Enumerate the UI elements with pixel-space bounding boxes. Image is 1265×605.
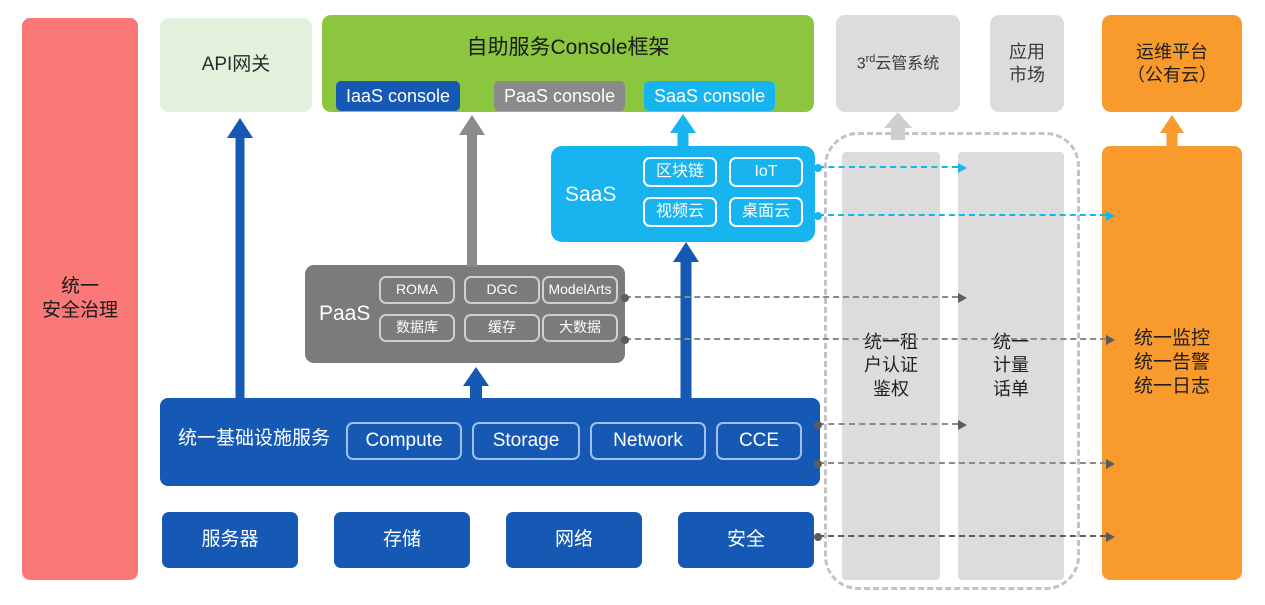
arrow-paas-to-console — [458, 115, 486, 267]
infra-service-network[interactable]: Network — [590, 422, 706, 460]
app-market-label: 应用市场 — [1009, 41, 1045, 86]
ops-platform-public-cloud-box: 运维平台（公有云） — [1102, 15, 1242, 112]
saas-layer-panel: SaaS 区块链 IoT 视频云 桌面云 — [551, 146, 815, 242]
api-gateway-box: API网关 — [160, 18, 312, 112]
arrow-infra-to-api-gateway — [226, 118, 254, 400]
paas-service-roma[interactable]: ROMA — [379, 276, 455, 304]
shared-service-tenant-auth-label: 统一租户认证鉴权 — [864, 331, 918, 401]
shared-service-metering-billing: 统一计量话单 — [958, 152, 1064, 580]
link-paas-to-tenant-auth — [625, 296, 958, 298]
unified-infrastructure-panel: 统一基础设施服务 Compute Storage Network CCE — [160, 398, 820, 486]
infra-service-compute[interactable]: Compute — [346, 422, 462, 460]
link-saas-to-ops-right — [818, 214, 1106, 216]
app-market-box: 应用市场 — [990, 15, 1064, 112]
saas-service-iot[interactable]: IoT — [729, 157, 803, 187]
saas-layer-label: SaaS — [565, 182, 616, 208]
arrow-saas-to-saas-console — [669, 114, 697, 150]
paas-layer-label: PaaS — [319, 301, 370, 327]
resource-box-server: 服务器 — [162, 512, 298, 568]
link-infra-to-ops-right — [818, 462, 1106, 464]
resource-box-network: 网络 — [506, 512, 642, 568]
console-framework-panel: 自助服务Console框架 IaaS console PaaS console … — [322, 15, 814, 112]
saas-service-video-cloud[interactable]: 视频云 — [643, 197, 717, 227]
resource-box-security: 安全 — [678, 512, 814, 568]
saas-service-desktop-cloud[interactable]: 桌面云 — [729, 197, 803, 227]
link-infra-to-tenant-auth — [818, 423, 958, 425]
unified-infrastructure-label: 统一基础设施服务 — [178, 427, 330, 451]
link-saas-to-tenant-auth — [818, 166, 958, 168]
resource-box-storage: 存储 — [334, 512, 470, 568]
arrow-infra-to-paas — [462, 367, 490, 401]
paas-service-database[interactable]: 数据库 — [379, 314, 455, 342]
paas-service-dgc[interactable]: DGC — [464, 276, 540, 304]
unified-monitoring-panel: 统一监控统一告警统一日志 — [1102, 146, 1242, 580]
link-paas-to-ops-right — [625, 338, 1106, 340]
shared-service-tenant-auth: 统一租户认证鉴权 — [842, 152, 940, 580]
infra-service-cce[interactable]: CCE — [716, 422, 802, 460]
link-resources-to-ops-right — [818, 535, 1106, 537]
resource-label-server: 服务器 — [201, 528, 258, 552]
arrow-shared-to-third-party — [884, 112, 912, 138]
saas-console-chip[interactable]: SaaS console — [644, 81, 775, 111]
api-gateway-label: API网关 — [202, 53, 271, 77]
paas-service-cache[interactable]: 缓存 — [464, 314, 540, 342]
ops-platform-label: 运维平台（公有云） — [1127, 41, 1217, 86]
architecture-diagram: 统一安全治理 API网关 自助服务Console框架 IaaS console … — [0, 0, 1265, 605]
security-governance-panel: 统一安全治理 — [22, 18, 138, 580]
paas-service-modelarts[interactable]: ModelArts — [542, 276, 618, 304]
arrow-infra-to-saas — [672, 242, 700, 400]
shared-service-metering-billing-label: 统一计量话单 — [993, 331, 1029, 401]
paas-service-bigdata[interactable]: 大数据 — [542, 314, 618, 342]
resource-label-security: 安全 — [727, 528, 765, 552]
resource-label-network: 网络 — [555, 528, 593, 552]
infra-service-storage[interactable]: Storage — [472, 422, 580, 460]
console-framework-title: 自助服务Console框架 — [322, 35, 814, 61]
arrow-ops-right-to-ops-top — [1158, 115, 1186, 147]
resource-label-storage: 存储 — [383, 528, 421, 552]
paas-layer-panel: PaaS ROMA DGC ModelArts 数据库 缓存 大数据 — [305, 265, 625, 363]
unified-monitoring-label: 统一监控统一告警统一日志 — [1134, 327, 1210, 398]
security-governance-label: 统一安全治理 — [42, 275, 118, 323]
third-party-cloud-mgmt-label: 3rd云管系统 — [857, 53, 940, 74]
iaas-console-chip[interactable]: IaaS console — [336, 81, 460, 111]
paas-console-chip[interactable]: PaaS console — [494, 81, 625, 111]
saas-service-blockchain[interactable]: 区块链 — [643, 157, 717, 187]
third-party-cloud-mgmt-box: 3rd云管系统 — [836, 15, 960, 112]
